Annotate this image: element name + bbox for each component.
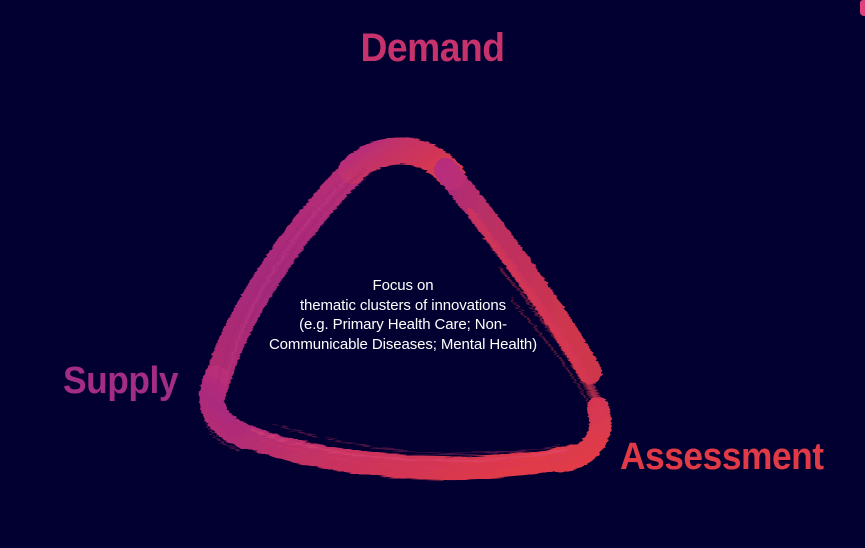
label-assessment: Assessment [620,436,824,479]
focus-description-text: Focus on thematic clusters of innovation… [268,276,538,354]
label-supply: Supply [63,360,178,403]
paint-fleck-top-right [860,0,865,16]
label-demand: Demand [30,26,834,71]
slide-canvas: Demand Supply Assessment Focus on themat… [0,0,865,548]
